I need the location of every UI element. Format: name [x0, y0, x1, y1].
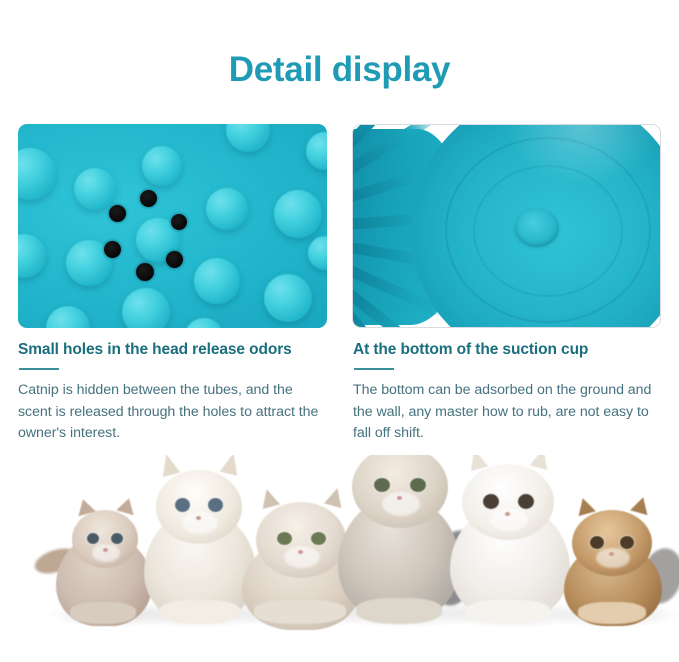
heading-divider [19, 368, 59, 370]
odor-hole [171, 214, 187, 230]
heading-divider [354, 368, 394, 370]
detail-images-row [18, 124, 661, 328]
feature-text-suction-cup: At the bottom of the suction cup The bot… [353, 340, 663, 444]
cats-photo-strip [0, 455, 679, 662]
odor-hole [140, 190, 157, 207]
cup-center-nipple [515, 209, 559, 247]
odor-hole [136, 263, 154, 281]
odor-hole [109, 205, 126, 222]
feature-heading: At the bottom of the suction cup [353, 340, 663, 359]
suction-cup-bowl [411, 125, 660, 327]
page-title: Detail display [0, 50, 679, 90]
odor-hole [104, 241, 121, 258]
feature-text-small-holes: Small holes in the head release odors Ca… [18, 340, 328, 444]
feature-body: The bottom can be adsorbed on the ground… [353, 380, 663, 444]
feature-heading: Small holes in the head release odors [18, 340, 328, 359]
odor-hole [166, 251, 183, 268]
detail-image-suction-cup[interactable] [352, 124, 661, 328]
cat-brown-tabby-kitten [556, 492, 679, 620]
suction-cup-closeup [353, 125, 660, 327]
feature-body: Catnip is hidden between the tubes, and … [18, 380, 328, 444]
feature-text-row: Small holes in the head release odors Ca… [18, 340, 663, 444]
detail-image-small-holes[interactable] [18, 124, 327, 328]
bumpy-teal-surface [18, 124, 327, 328]
